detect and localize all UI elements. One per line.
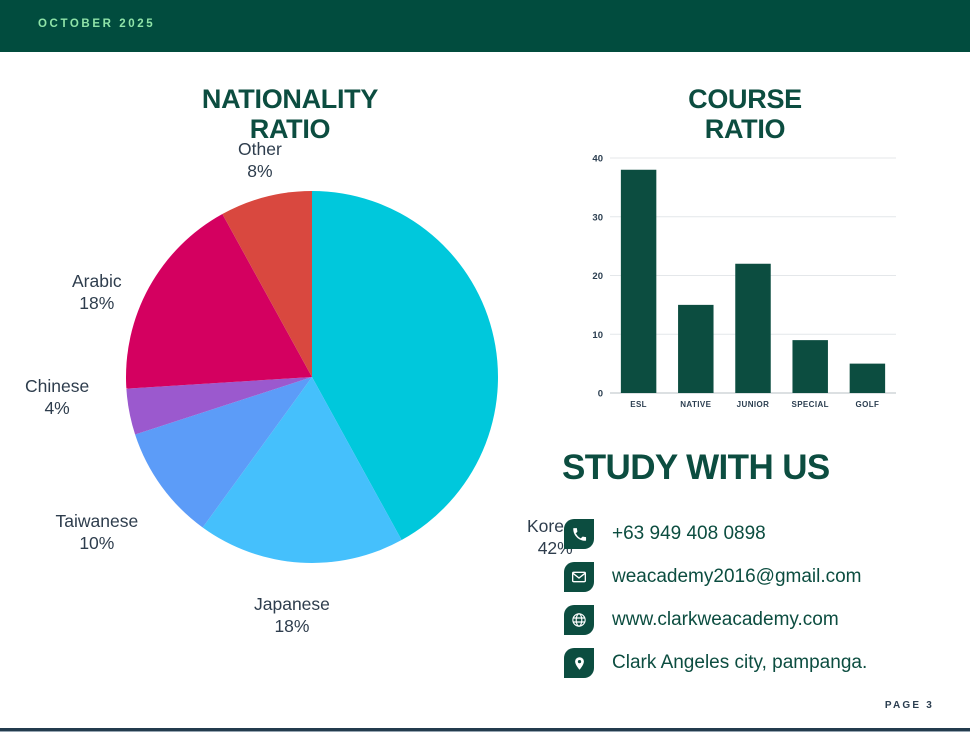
envelope-icon — [564, 562, 594, 592]
bar-xtick-label: JUNIOR — [737, 400, 770, 409]
footer-rule-thin — [0, 731, 970, 732]
top-header-bar: OCTOBER 2025 — [0, 0, 970, 52]
pie-slice-label: Other8% — [238, 138, 282, 183]
issue-date-label: OCTOBER 2025 — [38, 18, 155, 30]
page-number-label: PAGE 3 — [885, 700, 934, 711]
course-title-line2: RATIO — [705, 114, 786, 144]
course-ratio-title: COURSE RATIO — [600, 84, 890, 144]
nationality-title-line1: NATIONALITY — [202, 84, 378, 114]
bar-xtick-label: ESL — [630, 400, 647, 409]
bar-rect — [621, 170, 656, 393]
pie-label-value: 18% — [254, 615, 330, 637]
contact-list: +63 949 408 0898weacademy2016@gmail.comw… — [564, 513, 964, 685]
bar-rect — [735, 264, 770, 393]
bar-xtick-label: NATIVE — [680, 400, 711, 409]
contact-text: www.clarkweacademy.com — [612, 609, 839, 631]
study-with-us-heading: STUDY WITH US — [562, 448, 830, 488]
bar-ytick-label: 10 — [592, 330, 603, 341]
contact-row[interactable]: Clark Angeles city, pampanga. — [564, 642, 964, 684]
pie-slice-label: Arabic18% — [72, 270, 122, 315]
slide-canvas: OCTOBER 2025 NATIONALITY RATIO COURSE RA… — [0, 0, 970, 749]
bar-xtick-label: SPECIAL — [791, 400, 828, 409]
pie-slice-label: Taiwanese10% — [56, 510, 139, 555]
course-bar-chart: 010203040 ESLNATIVEJUNIORSPECIALGOLF — [572, 148, 902, 423]
pie-label-value: 4% — [25, 397, 89, 419]
pie-label-name: Arabic — [72, 271, 122, 291]
pie-slice-label: Chinese4% — [25, 375, 89, 420]
nationality-pie-chart: Korean42%Japanese18%Taiwanese10%Chinese4… — [0, 140, 560, 620]
contact-row[interactable]: www.clarkweacademy.com — [564, 599, 964, 641]
pie-slice-label: Japanese18% — [254, 593, 330, 638]
nationality-ratio-title: NATIONALITY RATIO — [120, 84, 460, 144]
contact-text: +63 949 408 0898 — [612, 523, 766, 545]
location-pin-icon — [564, 648, 594, 678]
pie-label-name: Other — [238, 139, 282, 159]
contact-row[interactable]: weacademy2016@gmail.com — [564, 556, 964, 598]
bar-ytick-label: 30 — [592, 212, 603, 223]
bar-xtick-group: ESLNATIVEJUNIORSPECIALGOLF — [630, 400, 879, 409]
bar-rect — [792, 340, 827, 393]
phone-icon — [564, 519, 594, 549]
bar-chart-svg: 010203040 ESLNATIVEJUNIORSPECIALGOLF — [572, 148, 902, 423]
pie-label-value: 10% — [56, 532, 139, 554]
bar-xtick-label: GOLF — [855, 400, 879, 409]
bar-ytick-label: 0 — [598, 389, 603, 400]
pie-label-value: 18% — [72, 292, 122, 314]
pie-label-name: Taiwanese — [56, 511, 139, 531]
bar-ytick-label: 40 — [592, 154, 603, 165]
bar-ytick-group: 010203040 — [592, 154, 603, 400]
pie-label-value: 8% — [238, 160, 282, 182]
contact-row[interactable]: +63 949 408 0898 — [564, 513, 964, 555]
pie-label-name: Chinese — [25, 376, 89, 396]
bar-rect-group — [621, 170, 885, 393]
course-title-line1: COURSE — [688, 84, 802, 114]
contact-text: Clark Angeles city, pampanga. — [612, 652, 867, 674]
contact-text: weacademy2016@gmail.com — [612, 566, 862, 588]
bar-rect — [850, 364, 885, 393]
bar-rect — [678, 305, 713, 393]
bar-ytick-label: 20 — [592, 271, 603, 282]
globe-icon — [564, 605, 594, 635]
pie-slice-group — [126, 191, 498, 563]
pie-label-name: Japanese — [254, 594, 330, 614]
